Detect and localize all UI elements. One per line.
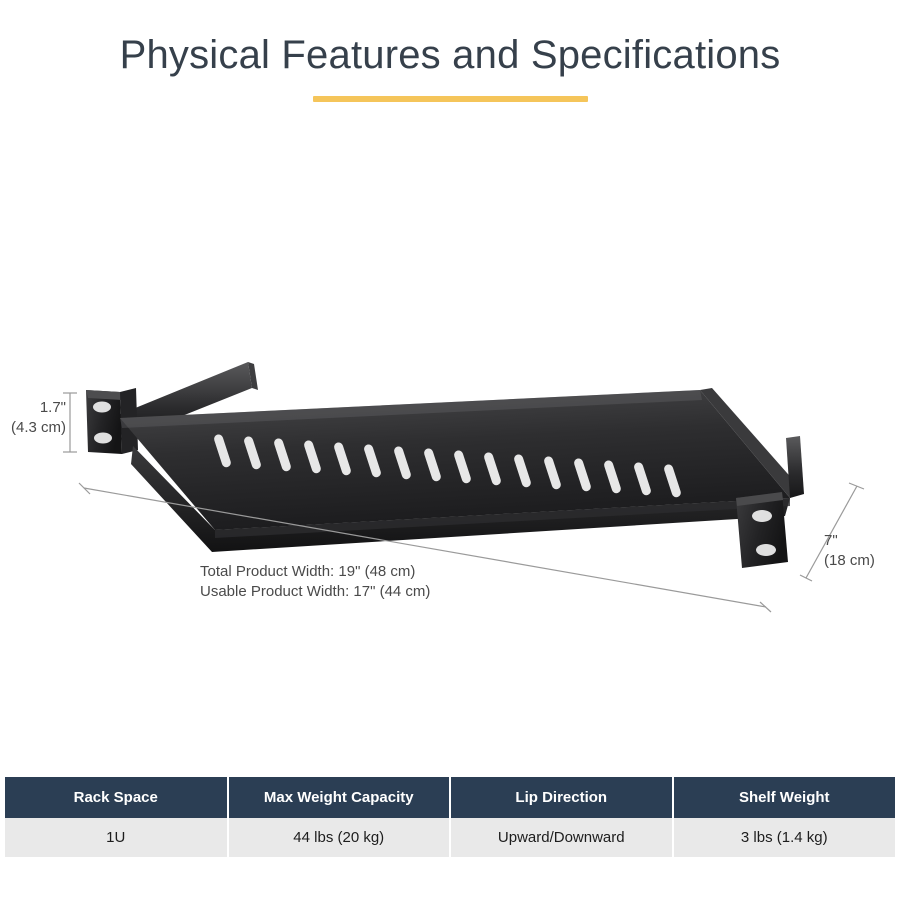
- total-width-label: Total Product Width: 19" (48 cm): [200, 562, 430, 582]
- product-illustration: [0, 330, 900, 630]
- height-dimension-value: 1.7": [6, 398, 66, 418]
- cell-shelf-weight: 3 lbs (1.4 kg): [673, 818, 896, 857]
- depth-dimension-value: 7": [824, 531, 875, 551]
- cell-max-weight-capacity: 44 lbs (20 kg): [228, 818, 451, 857]
- header-block: Physical Features and Specifications: [0, 32, 900, 102]
- cell-rack-space: 1U: [5, 818, 228, 857]
- table-row: 1U 44 lbs (20 kg) Upward/Downward 3 lbs …: [5, 818, 895, 857]
- column-header-shelf-weight: Shelf Weight: [673, 777, 896, 818]
- page-title: Physical Features and Specifications: [0, 32, 900, 78]
- height-dimension-label: 1.7" (4.3 cm): [6, 398, 66, 438]
- column-header-max-weight-capacity: Max Weight Capacity: [228, 777, 451, 818]
- column-header-rack-space: Rack Space: [5, 777, 228, 818]
- depth-dimension-metric: (18 cm): [824, 551, 875, 571]
- column-header-lip-direction: Lip Direction: [450, 777, 673, 818]
- title-accent-underline: [313, 96, 588, 102]
- table-header-row: Rack Space Max Weight Capacity Lip Direc…: [5, 777, 895, 818]
- usable-width-label: Usable Product Width: 17" (44 cm): [200, 582, 430, 602]
- height-dimension-metric: (4.3 cm): [6, 418, 66, 438]
- cell-lip-direction: Upward/Downward: [450, 818, 673, 857]
- depth-dimension-label: 7" (18 cm): [824, 531, 875, 571]
- width-dimension-label: Total Product Width: 19" (48 cm) Usable …: [200, 562, 430, 602]
- specifications-table: Rack Space Max Weight Capacity Lip Direc…: [5, 777, 895, 857]
